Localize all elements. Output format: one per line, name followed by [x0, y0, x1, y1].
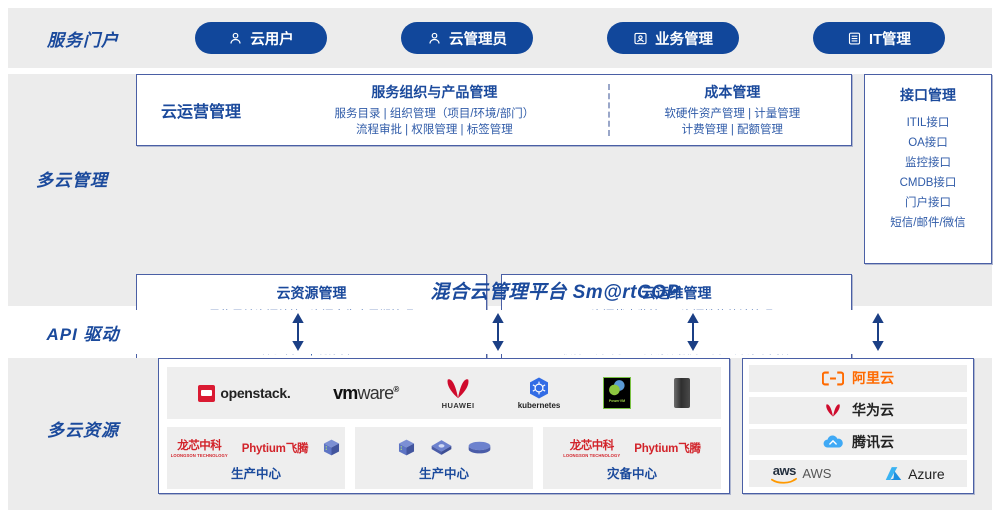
service-portal-label: 服务门户 — [8, 26, 158, 51]
server-cube-icon — [397, 438, 416, 457]
column-title: 服务组织与产品管理 — [271, 82, 598, 102]
api-management-item[interactable]: OA接口 — [869, 133, 987, 153]
api-management-item[interactable]: CMDB接口 — [869, 173, 987, 193]
server-rack-icon — [674, 378, 690, 408]
api-driven-section: API 驱动 — [8, 310, 992, 354]
azure-entry[interactable]: Azure — [884, 466, 945, 482]
multi-cloud-management-label: 多云管理 — [8, 74, 136, 191]
data-center-name: 灾备中心 — [607, 463, 657, 482]
data-center-name: 生产中心 — [231, 463, 281, 482]
openstack-label: openstack. — [220, 385, 290, 401]
architecture-diagram: 服务门户 云用户 云管理员 — [0, 0, 1000, 518]
phytium-icon: Phytium飞腾 — [242, 440, 309, 456]
api-driven-arrows — [158, 310, 992, 354]
portal-button-it-mgmt[interactable]: IT管理 — [813, 22, 945, 54]
api-management-item[interactable]: ITIL接口 — [869, 113, 987, 133]
loongson-icon: 龙芯中科 LOONGSON TECHNOLOGY — [563, 437, 620, 458]
public-cloud-tencent[interactable]: 腾讯云 — [749, 429, 967, 456]
powervm-label: PowerVM — [604, 399, 630, 403]
business-window-icon — [633, 31, 648, 46]
huawei-icon: HUAWEI — [441, 376, 475, 410]
data-center-production-2[interactable]: 生产中心 — [355, 427, 533, 489]
data-center-disaster-recovery[interactable]: 龙芯中科 LOONGSON TECHNOLOGY Phytium飞腾 灾备中心 — [543, 427, 721, 489]
openstack-icon: openstack. — [198, 385, 290, 402]
switch-icon — [430, 438, 453, 457]
openstack-mark — [198, 385, 215, 402]
public-cloud-aws-azure-row[interactable]: aws AWS Azure — [749, 460, 967, 487]
public-cloud-label: 腾讯云 — [852, 432, 894, 452]
vmware-label-bold: vm — [333, 383, 357, 403]
aws-entry[interactable]: aws AWS — [771, 464, 831, 484]
cost-mgmt-column: 成本管理 软硬件资产管理 | 计量管理 计费管理 | 配额管理 — [614, 78, 851, 142]
multi-cloud-resource-section: 多云资源 openstack. vmware® — [8, 358, 992, 510]
portal-button-business-mgmt[interactable]: 业务管理 — [607, 22, 739, 54]
multi-cloud-resource-label: 多云资源 — [8, 358, 158, 441]
tencent-cloud-icon — [822, 434, 844, 450]
admin-user-icon — [427, 31, 442, 46]
portal-button-cloud-admin[interactable]: 云管理员 — [401, 22, 533, 54]
vmware-icon: vmware® — [333, 383, 398, 404]
api-management-panel[interactable]: 接口管理 ITIL接口 OA接口 监控接口 CMDB接口 门户接口 短信/邮件/… — [864, 74, 992, 264]
api-management-item[interactable]: 短信/邮件/微信 — [869, 213, 987, 233]
bidirectional-arrow-icon — [491, 313, 505, 356]
huawei-label: HUAWEI — [442, 401, 475, 410]
multi-cloud-management-section: 多云管理 云运营管理 服务组织与产品管理 服务目录 | 组织管理（项目/环境/部… — [8, 74, 992, 306]
private-cloud-panel[interactable]: openstack. vmware® HUAWEI — [158, 358, 730, 494]
portal-button-group: 云用户 云管理员 业务管理 — [158, 22, 992, 54]
public-cloud-alibaba[interactable]: 阿里云 — [749, 365, 967, 392]
public-cloud-panel[interactable]: 阿里云 华为云 — [742, 358, 974, 494]
data-center-logos: 龙芯中科 LOONGSON TECHNOLOGY Phytium飞腾 — [563, 435, 701, 461]
data-center-production-1[interactable]: 龙芯中科 LOONGSON TECHNOLOGY Phytium飞腾 — [167, 427, 345, 489]
multi-cloud-resource-body: openstack. vmware® HUAWEI — [158, 358, 992, 494]
azure-label: Azure — [908, 466, 945, 482]
column-line: 服务目录 | 组织管理（项目/环境/部门） — [271, 106, 598, 122]
public-cloud-label: 华为云 — [852, 400, 894, 420]
public-cloud-huawei[interactable]: 华为云 — [749, 397, 967, 424]
storage-disk-icon — [467, 440, 492, 456]
data-center-row: 龙芯中科 LOONGSON TECHNOLOGY Phytium飞腾 — [167, 427, 721, 489]
kubernetes-label: kubernetes — [518, 401, 561, 410]
aws-label: AWS — [802, 466, 831, 481]
api-management-item[interactable]: 监控接口 — [869, 153, 987, 173]
operations-row: 云运营管理 服务组织与产品管理 服务目录 | 组织管理（项目/环境/部门） 流程… — [136, 74, 992, 264]
cloud-operation-panel[interactable]: 云运营管理 服务组织与产品管理 服务目录 | 组织管理（项目/环境/部门） 流程… — [136, 74, 852, 146]
alibaba-cloud-icon — [822, 371, 844, 386]
data-center-name: 生产中心 — [419, 463, 469, 482]
loongson-label: 龙芯中科 — [177, 437, 221, 453]
column-line: 计费管理 | 配额管理 — [620, 122, 845, 138]
loongson-sublabel: LOONGSON TECHNOLOGY — [563, 453, 620, 458]
multi-cloud-management-body: 云运营管理 服务组织与产品管理 服务目录 | 组织管理（项目/环境/部门） 流程… — [136, 74, 992, 306]
public-cloud-label: 阿里云 — [852, 368, 894, 388]
portal-button-label: 云管理员 — [449, 28, 507, 49]
phytium-icon: Phytium飞腾 — [634, 440, 701, 456]
api-management-title: 接口管理 — [869, 85, 987, 105]
user-icon — [228, 31, 243, 46]
api-management-item[interactable]: 门户接口 — [869, 193, 987, 213]
bidirectional-arrow-icon — [871, 313, 885, 356]
bidirectional-arrow-icon — [686, 313, 700, 356]
cloud-operation-group-label: 云运营管理 — [137, 98, 265, 122]
data-center-logos — [397, 435, 492, 461]
kubernetes-helm-mark — [527, 376, 551, 400]
vmware-label-thin: ware — [358, 383, 394, 403]
kubernetes-icon: kubernetes — [518, 376, 561, 410]
service-product-mgmt-column: 服务组织与产品管理 服务目录 | 组织管理（项目/环境/部门） 流程审批 | 权… — [265, 78, 604, 142]
huawei-cloud-icon — [822, 402, 844, 418]
portal-button-label: 云用户 — [250, 28, 294, 49]
portal-button-label: IT管理 — [869, 28, 911, 49]
api-driven-label: API 驱动 — [8, 320, 158, 345]
column-divider — [608, 84, 610, 136]
data-center-logos: 龙芯中科 LOONGSON TECHNOLOGY Phytium飞腾 — [171, 435, 342, 461]
column-line: 软硬件资产管理 | 计量管理 — [620, 106, 845, 122]
server-list-icon — [847, 31, 862, 46]
azure-icon — [884, 466, 903, 482]
loongson-label: 龙芯中科 — [570, 437, 614, 453]
server-cube-icon — [322, 438, 341, 457]
loongson-sublabel: LOONGSON TECHNOLOGY — [171, 453, 228, 458]
aws-icon: aws — [771, 464, 797, 484]
loongson-icon: 龙芯中科 LOONGSON TECHNOLOGY — [171, 437, 228, 458]
platform-title: 混合云管理平台 Sm@rtCOP — [136, 277, 974, 304]
bidirectional-arrow-icon — [291, 313, 305, 356]
powervm-icon: PowerVM — [603, 377, 631, 409]
portal-button-label: 业务管理 — [655, 28, 713, 49]
column-line: 流程审批 | 权限管理 | 标签管理 — [271, 122, 598, 138]
portal-button-cloud-user[interactable]: 云用户 — [195, 22, 327, 54]
cloud-operation-columns: 服务组织与产品管理 服务目录 | 组织管理（项目/环境/部门） 流程审批 | 权… — [265, 78, 851, 142]
virtualization-logo-strip: openstack. vmware® HUAWEI — [167, 367, 721, 419]
huawei-flower-mark — [441, 376, 475, 400]
column-title: 成本管理 — [620, 82, 845, 102]
service-portal-section: 服务门户 云用户 云管理员 — [8, 8, 992, 68]
